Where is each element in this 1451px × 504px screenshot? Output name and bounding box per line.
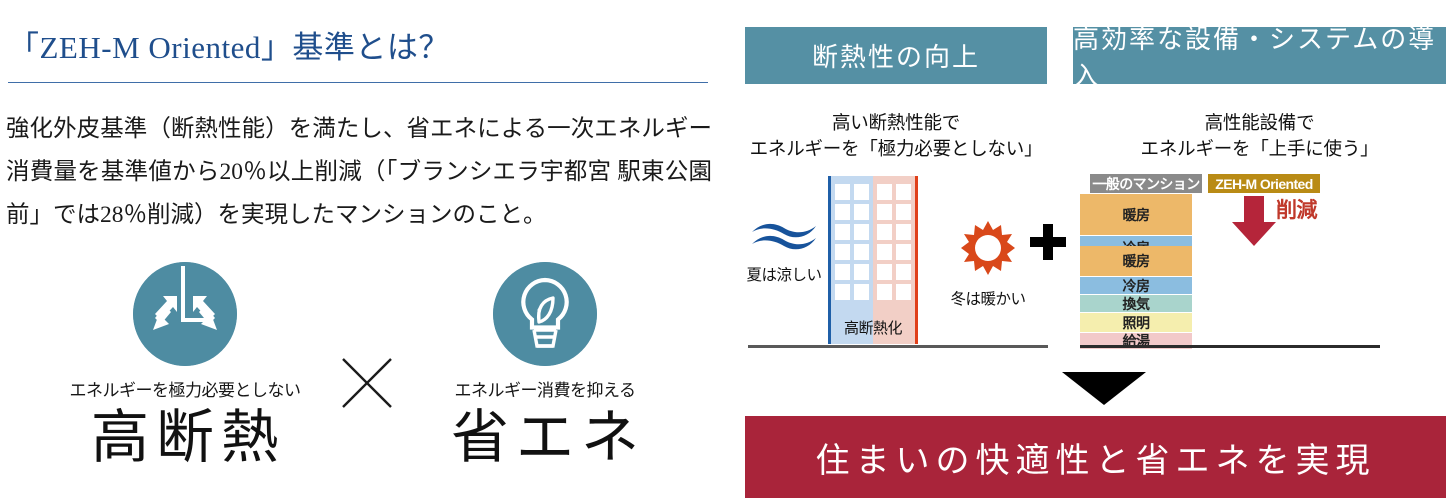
pill-insulation-improvement: 断熱性の向上	[745, 27, 1047, 84]
window	[877, 224, 892, 240]
subcaption-insulation: 高い断熱性能で エネルギーを「極力必要としない」	[745, 110, 1047, 162]
insulation-arrows-icon	[133, 262, 237, 366]
concept-high-insulation: エネルギーを極力必要としない 高断熱	[30, 262, 340, 472]
window	[896, 204, 911, 220]
winter-sun-block: 冬は暖かい	[948, 220, 1028, 309]
plus-icon	[1030, 224, 1066, 260]
summer-label: 夏は涼しい	[744, 263, 824, 285]
concept-caption: エネルギー消費を抑える	[390, 376, 700, 401]
subcaption-line1: 高性能設備で	[1073, 110, 1446, 136]
lightbulb-leaf-icon	[493, 262, 597, 366]
window	[835, 284, 850, 300]
conclusion-banner: 住まいの快適性と省エネを実現	[745, 416, 1446, 498]
window-grid	[835, 184, 869, 300]
multiply-icon	[338, 354, 396, 412]
window	[854, 204, 869, 220]
concept-caption: エネルギーを極力必要としない	[30, 376, 340, 401]
description-paragraph: 強化外皮基準（断熱性能）を満たし、省エネによる一次エネルギー消費量を基準値から2…	[6, 108, 712, 237]
window	[835, 264, 850, 280]
left-panel: 「ZEH-M Oriented」基準とは？ 強化外皮基準（断熱性能）を満たし、省…	[0, 0, 725, 504]
window	[854, 184, 869, 200]
window	[854, 224, 869, 240]
window-grid	[877, 184, 911, 300]
energy-comparison-chart: 一般のマンション 暖房冷房換気照明給湯 ZEH-M Oriented 暖房冷房換…	[1080, 172, 1451, 354]
subcaption-line2: エネルギーを「極力必要としない」	[745, 136, 1047, 162]
chart-column-header: 一般のマンション	[1090, 174, 1202, 193]
chart-column-generic: 一般のマンション	[1090, 174, 1202, 193]
window	[877, 204, 892, 220]
window	[835, 244, 850, 260]
wave-icon	[750, 220, 818, 252]
concept-energy-saving: エネルギー消費を抑える 省エネ	[390, 262, 700, 472]
chart-column-header: ZEH-M Oriented	[1208, 174, 1320, 193]
window	[835, 204, 850, 220]
chart-column-zeh: ZEH-M Oriented	[1208, 174, 1320, 193]
chart-stack-zeh: 暖房冷房換気照明給湯	[1080, 246, 1192, 350]
concept-headline: 省エネ	[390, 405, 700, 472]
reduction-label: 削減	[1276, 194, 1317, 224]
window	[896, 244, 911, 260]
chart-segment: 照明	[1080, 313, 1192, 333]
window	[896, 264, 911, 280]
chart-segment: 暖房	[1080, 194, 1192, 236]
chart-segment: 換気	[1080, 295, 1192, 313]
building-caption: 高断熱化	[828, 317, 918, 338]
right-panel: 断熱性の向上 高効率な設備・システムの導入 高い断熱性能で エネルギーを「極力必…	[740, 0, 1451, 504]
down-arrow-icon	[1062, 372, 1146, 405]
chart-segment: 冷房	[1080, 277, 1192, 295]
summer-breeze-block: 夏は涼しい	[744, 220, 824, 285]
subcaption-line1: 高い断熱性能で	[745, 110, 1047, 136]
window	[877, 284, 892, 300]
window	[854, 284, 869, 300]
chart-segment: 暖房	[1080, 246, 1192, 277]
concept-row: エネルギーを極力必要としない 高断熱	[0, 262, 725, 492]
subcaption-line2: エネルギーを「上手に使う」	[1073, 136, 1446, 162]
winter-label: 冬は暖かい	[948, 287, 1028, 309]
subcaption-equipment: 高性能設備で エネルギーを「上手に使う」	[1073, 110, 1446, 162]
window	[877, 244, 892, 260]
infographic-root: 「ZEH-M Oriented」基準とは？ 強化外皮基準（断熱性能）を満たし、省…	[0, 0, 1451, 504]
pill-high-efficiency-systems: 高効率な設備・システムの導入	[1073, 27, 1446, 84]
reduction-arrow-icon	[1230, 196, 1278, 246]
window	[896, 284, 911, 300]
sun-icon	[960, 220, 1016, 276]
building-diagram: 夏は涼しい	[740, 172, 1060, 354]
title-divider	[8, 82, 708, 83]
window	[896, 184, 911, 200]
page-title: 「ZEH-M Oriented」基準とは？	[8, 22, 450, 67]
window	[877, 264, 892, 280]
window	[835, 184, 850, 200]
window	[877, 184, 892, 200]
window	[854, 244, 869, 260]
concept-headline: 高断熱	[30, 405, 340, 472]
window	[835, 224, 850, 240]
window	[896, 224, 911, 240]
chart-baseline	[1080, 345, 1380, 348]
ground-line	[748, 345, 1048, 348]
window	[854, 264, 869, 280]
